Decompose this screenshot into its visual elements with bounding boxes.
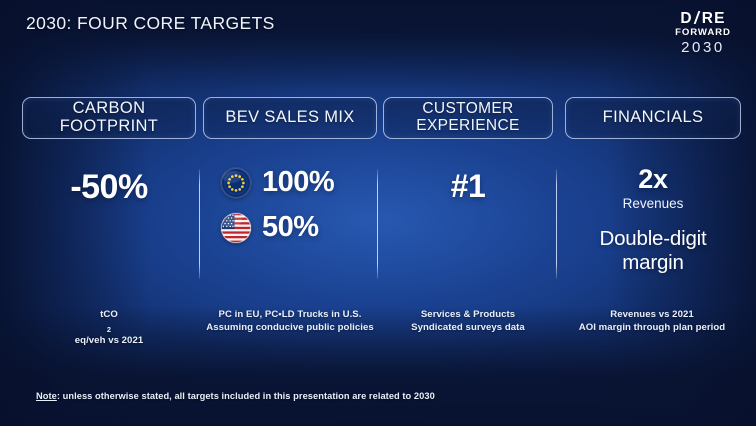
logo-slash-a-icon xyxy=(693,10,702,23)
us-flag-icon xyxy=(221,213,251,243)
carbon-footprint-value: -50% xyxy=(22,168,196,207)
eu-flag-icon xyxy=(221,168,251,198)
pill-financials-label: FINANCIALS xyxy=(603,109,704,127)
note-customer-experience: Services & Products Syndicated surveys d… xyxy=(383,308,553,334)
customer-experience-value: #1 xyxy=(383,168,553,205)
note-cx-line2: Syndicated surveys data xyxy=(383,321,553,334)
financials-revenue-multiple: 2x xyxy=(562,164,744,195)
slide-footnote: Note: unless otherwise stated, all targe… xyxy=(36,391,435,401)
note-carbon-suffix: eq/veh vs 2021 xyxy=(22,334,196,347)
pill-customer-experience-label-line2: EXPERIENCE xyxy=(416,118,519,135)
note-bev-sales-mix: PC in EU, PC•LD Trucks in U.S. Assuming … xyxy=(195,308,385,334)
note-cx-line1: Services & Products xyxy=(383,308,553,321)
column-carbon-footprint: -50% xyxy=(22,150,196,295)
slide-canvas: 2030: FOUR CORE TARGETS D RE FORWARD 203… xyxy=(0,0,756,426)
pill-carbon-footprint-label: CARBON FOOTPRINT xyxy=(23,100,195,136)
pill-financials[interactable]: FINANCIALS xyxy=(565,97,741,139)
bev-eu-value: 100% xyxy=(262,166,334,199)
note-carbon-prefix: tCO xyxy=(22,308,196,321)
note-bev-line1: PC in EU, PC•LD Trucks in U.S. xyxy=(195,308,385,321)
slide-footnote-text: : unless otherwise stated, all targets i… xyxy=(57,391,435,401)
logo-letters-re: RE xyxy=(702,11,726,27)
page-title: 2030: FOUR CORE TARGETS xyxy=(26,13,275,34)
financials-margin-line2: margin xyxy=(622,251,683,274)
bev-row-eu: 100% xyxy=(221,166,377,199)
financials-margin-line1: Double-digit xyxy=(600,227,707,250)
dare-forward-2030-logo: D RE FORWARD 2030 xyxy=(666,10,740,55)
bev-us-value: 50% xyxy=(262,211,319,244)
note-bev-line2: Assuming conducive public policies xyxy=(195,321,385,334)
pill-customer-experience-label-line1: CUSTOMER xyxy=(416,101,519,118)
column-financials: 2x Revenues Double-digit margin xyxy=(562,150,744,295)
financials-margin-text: Double-digit margin xyxy=(562,227,744,275)
logo-year-text: 2030 xyxy=(666,40,740,55)
column-bev-sales-mix: 100% xyxy=(203,150,377,295)
financials-revenue-caption: Revenues xyxy=(562,196,744,211)
bev-row-us: 50% xyxy=(221,211,377,244)
logo-forward-text: FORWARD xyxy=(666,28,740,38)
logo-letter-d: D xyxy=(680,11,692,27)
slide-footnote-label: Note xyxy=(36,391,57,401)
column-customer-experience: #1 xyxy=(383,150,553,295)
note-carbon-footprint-text: tCO2eq/veh vs 2021 xyxy=(22,308,196,348)
note-financials: Revenues vs 2021 AOI margin through plan… xyxy=(556,308,748,334)
pill-bev-sales-mix-label: BEV SALES MIX xyxy=(225,109,354,127)
note-carbon-footprint: tCO2eq/veh vs 2021 xyxy=(22,308,196,348)
note-carbon-subscript: 2 xyxy=(107,325,111,334)
pill-customer-experience[interactable]: CUSTOMER EXPERIENCE xyxy=(383,97,553,139)
logo-dare-wordmark: D RE xyxy=(666,10,740,27)
target-pill-row: CARBON FOOTPRINT BEV SALES MIX CUSTOMER … xyxy=(0,97,756,139)
note-financials-line2: AOI margin through plan period xyxy=(556,321,748,334)
pill-carbon-footprint[interactable]: CARBON FOOTPRINT xyxy=(22,97,196,139)
note-financials-line1: Revenues vs 2021 xyxy=(556,308,748,321)
pill-bev-sales-mix[interactable]: BEV SALES MIX xyxy=(203,97,377,139)
